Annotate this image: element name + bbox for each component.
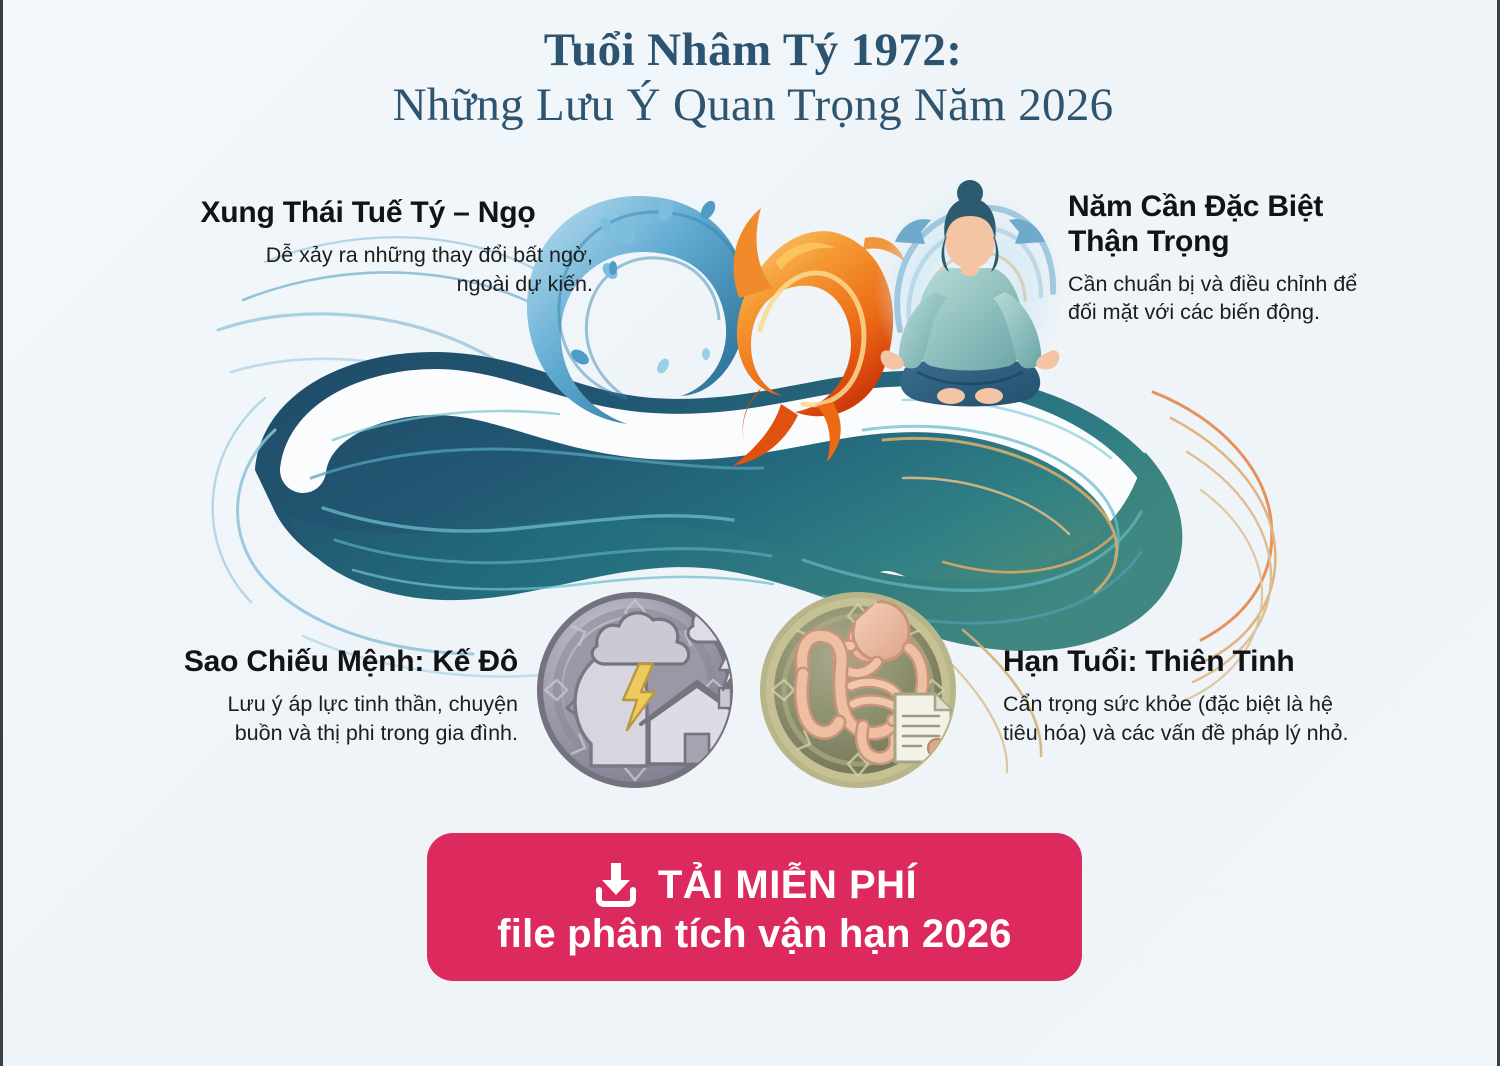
meditating-person-group [874,180,1066,407]
callout-heading-han-tuoi: Hạn Tuổi: Thiên Tinh [1003,645,1393,680]
callout-han-tuoi: Hạn Tuổi: Thiên Tinh Cẩn trọng sức khỏe … [1003,645,1393,747]
callout-heading-line-1: Năm Cần Đặc Biệt [1068,190,1323,223]
download-icon [592,860,640,910]
callout-body-line-2: tiêu hóa) và các vấn đề pháp lý nhỏ. [1003,721,1348,745]
callout-body-line-2: đối mặt với các biến động. [1068,300,1320,324]
cta-line-1: TẢI MIỄN PHÍ [658,864,917,906]
callout-body-xung-thai-tue: Dễ xảy ra những thay đổi bất ngờ, ngoài … [143,241,593,299]
callout-body-line-2: ngoài dự kiến. [457,272,593,296]
page-title: Tuổi Nhâm Tý 1972: Những Lưu Ý Quan Trọn… [3,24,1500,134]
callout-sao-chieu-menh: Sao Chiếu Mệnh: Kế Đô Lưu ý áp lực tinh … [133,645,518,747]
callout-body-sao-chieu-menh: Lưu ý áp lực tinh thần, chuyện buồn và t… [133,690,518,748]
callout-body-line-1: Cẩn trọng sức khỏe (đặc biệt là hệ [1003,692,1333,716]
callout-heading-line-2: Thận Trọng [1068,225,1229,258]
cta-line-2: file phân tích vận hạn 2026 [497,912,1011,957]
thien-tinh-coin-group [760,592,956,788]
callout-heading-sao-chieu-menh: Sao Chiếu Mệnh: Kế Đô [133,645,518,680]
ke-do-coin-group [537,592,766,788]
callout-body-line-1: Lưu ý áp lực tinh thần, chuyện [227,692,518,716]
callout-body-han-tuoi: Cẩn trọng sức khỏe (đặc biệt là hệ tiêu … [1003,690,1393,748]
callout-nam-can-dac-biet-than-trong: Năm Cần Đặc Biệt Thận Trọng Cần chuẩn bị… [1068,190,1398,327]
callout-body-line-1: Dễ xảy ra những thay đổi bất ngờ, [266,243,593,267]
callout-xung-thai-tue: Xung Thái Tuế Tý – Ngọ Dễ xảy ra những t… [143,196,593,298]
infographic-canvas: Tuổi Nhâm Tý 1972: Những Lưu Ý Quan Trọn… [0,0,1500,1066]
callout-body-than-trong: Cần chuẩn bị và điều chỉnh để đối mặt vớ… [1068,270,1398,328]
callout-heading-than-trong: Năm Cần Đặc Biệt Thận Trọng [1068,190,1398,260]
title-line-1: Tuổi Nhâm Tý 1972: [3,24,1500,77]
cta-primary-row: TẢI MIỄN PHÍ [592,860,917,910]
callout-body-line-1: Cần chuẩn bị và điều chỉnh để [1068,272,1357,296]
callout-heading-xung-thai-tue: Xung Thái Tuế Tý – Ngọ [143,196,593,231]
download-free-file-button[interactable]: TẢI MIỄN PHÍ file phân tích vận hạn 2026 [427,833,1082,981]
title-line-2: Những Lưu Ý Quan Trọng Năm 2026 [3,77,1500,134]
callout-body-line-2: buồn và thị phi trong gia đình. [235,721,518,745]
